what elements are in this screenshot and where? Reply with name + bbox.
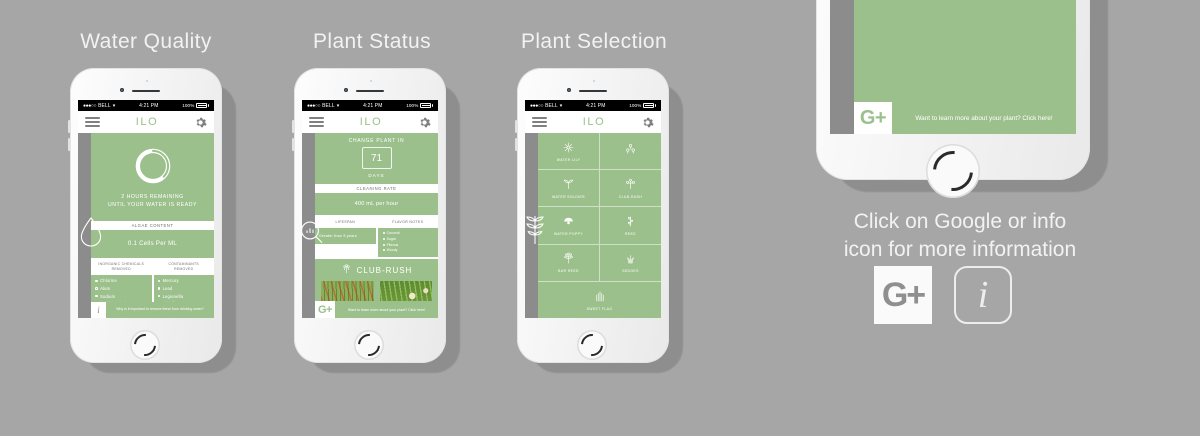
list-item: Chlorine xyxy=(95,278,148,283)
plant-label: WATER LILY xyxy=(557,158,581,162)
carrier-label: BELL xyxy=(98,103,111,109)
clock-label: 4:21 PM xyxy=(562,103,629,109)
days-value: 71 xyxy=(362,147,392,169)
timer-line-1: 2 HOURS REMAINING xyxy=(108,193,197,201)
status-bar: ●●●○○ BELL ▾ 4:21 PM 100% xyxy=(525,100,661,111)
instruction-caption: Click on Google or info icon for more in… xyxy=(828,208,1092,265)
sweet-flag-icon xyxy=(593,289,607,303)
side-strip xyxy=(830,0,854,134)
sedges-icon xyxy=(624,252,637,265)
flavor-column: FLAVOR NOTES Coconut Sugar Fibrous Woody xyxy=(378,217,439,257)
home-button[interactable] xyxy=(354,330,384,360)
proximity-sensor-icon xyxy=(146,80,148,82)
volume-button[interactable] xyxy=(292,138,295,151)
column-header: INORGANIC CHEMICALS REMOVED xyxy=(91,260,152,275)
section-title-water-quality: Water Quality xyxy=(46,30,246,54)
water-timer-text: 2 HOURS REMAINING UNTIL YOUR WATER IS RE… xyxy=(108,193,197,210)
front-camera-icon xyxy=(344,88,348,92)
plant-grid: WATER LILY xyxy=(538,133,661,318)
earpiece-speaker xyxy=(579,90,607,93)
bur-reed-icon xyxy=(562,252,575,265)
club-rush-icon xyxy=(624,178,637,191)
change-plant-card: CHANGE PLANT IN 71 DAYS xyxy=(315,133,438,184)
content-column: G+ Want to learn more about your plant? … xyxy=(854,0,1076,134)
days-label: DAYS xyxy=(315,169,438,184)
bullet-icon xyxy=(383,244,385,246)
carrier-label: BELL xyxy=(322,103,335,109)
list-item: Lead xyxy=(158,286,211,291)
bullet-icon xyxy=(95,280,98,283)
volume-button[interactable] xyxy=(68,120,71,133)
hamburger-menu-icon[interactable] xyxy=(309,115,324,129)
phone-plant-status: ●●●○○ BELL ▾ 4:21 PM 100% ILO CH xyxy=(294,68,446,363)
list-item: Fibrous xyxy=(383,243,434,247)
content-column: CHANGE PLANT IN 71 DAYS CLEANING RATE 40… xyxy=(315,133,438,318)
plant-grid-row: SWEET FLAG xyxy=(538,282,661,318)
app-header: ILO xyxy=(525,111,661,133)
earpiece-speaker xyxy=(356,90,384,93)
info-bar-text: Why is it important to remove these from… xyxy=(106,302,214,318)
earpiece-speaker xyxy=(132,90,160,93)
flavor-notes-list: Coconut Sugar Fibrous Woody xyxy=(378,228,439,256)
magnifier-icon[interactable] xyxy=(297,218,327,248)
plant-label: SEDGES xyxy=(622,269,639,273)
google-plus-label: G+ xyxy=(318,304,332,316)
list-item: Woody xyxy=(383,248,434,252)
clock-label: 4:21 PM xyxy=(115,103,182,109)
hamburger-menu-icon[interactable] xyxy=(532,115,547,129)
status-bar: ●●●○○ BELL ▾ 4:21 PM 100% xyxy=(302,100,438,111)
info-badge[interactable]: i xyxy=(954,266,1012,324)
google-plus-badge[interactable]: G+ xyxy=(874,266,932,324)
battery-icon xyxy=(420,103,431,108)
bullet-icon xyxy=(383,232,385,234)
battery-percent-label: 100% xyxy=(629,103,641,108)
clock-label: 4:21 PM xyxy=(339,103,406,109)
algae-content-value: 0.1 Cells Per ML xyxy=(91,230,214,258)
app-screen-plant-detail-large: G+ Want to learn more about your plant? … xyxy=(830,0,1076,134)
timer-line-2: UNTIL YOUR WATER IS READY xyxy=(108,201,197,209)
plant-cell-sedges[interactable]: SEDGES xyxy=(600,245,661,281)
phone-plant-detail-large: G+ Want to learn more about your plant? … xyxy=(816,0,1090,180)
plant-label: REED xyxy=(625,232,636,236)
gear-icon[interactable] xyxy=(418,116,431,129)
flavor-notes-header: FLAVOR NOTES xyxy=(378,217,439,228)
signal-icon: ●●●○○ xyxy=(307,103,320,109)
bullet-icon xyxy=(158,287,161,290)
info-icon[interactable]: i xyxy=(91,302,106,318)
plant-cell-reed[interactable]: REED xyxy=(600,207,661,243)
cleaning-rate-value: 400 mL per hour xyxy=(315,193,438,215)
google-plus-icon[interactable]: G+ xyxy=(854,102,892,134)
list-item: Sodium xyxy=(95,294,148,299)
google-plus-bar[interactable]: G+ Want to learn more about your plant? … xyxy=(315,301,438,318)
algae-content-header: ALGAE CONTENT xyxy=(91,221,214,230)
cleaning-rate-header: CLEANING RATE xyxy=(315,184,438,193)
volume-button[interactable] xyxy=(292,120,295,133)
gear-icon[interactable] xyxy=(194,116,207,129)
proximity-sensor-icon xyxy=(370,80,372,82)
plant-label: WATER SOLDIER xyxy=(552,195,585,199)
reed-icon xyxy=(624,215,637,228)
plant-cell-club-rush[interactable]: CLUB-RUSH xyxy=(600,170,661,206)
info-badge-label: i xyxy=(978,276,989,314)
plant-label: SWEET FLAG xyxy=(587,307,613,311)
front-camera-icon xyxy=(120,88,124,92)
google-plus-icon[interactable]: G+ xyxy=(315,301,335,318)
battery-percent-label: 100% xyxy=(406,103,418,108)
bullet-icon xyxy=(383,249,385,251)
volume-button[interactable] xyxy=(68,138,71,151)
water-lily-icon xyxy=(562,141,575,154)
app-body: G+ Want to learn more about your plant? … xyxy=(830,0,1076,134)
section-title-plant-status: Plant Status xyxy=(272,30,472,54)
carrier-label: BELL xyxy=(545,103,558,109)
home-button[interactable] xyxy=(926,144,980,198)
plant-grid-row: WATER LILY xyxy=(538,133,661,170)
column-header-line-2: REMOVED xyxy=(92,267,151,272)
volume-button[interactable] xyxy=(515,138,518,151)
content-column: WATER LILY xyxy=(538,133,661,318)
signal-icon: ●●●○○ xyxy=(530,103,543,109)
battery-cap-icon xyxy=(655,104,656,106)
plant-cell-bur-reed[interactable]: BUR REED xyxy=(538,245,600,281)
hamburger-menu-icon[interactable] xyxy=(85,115,100,129)
bullet-icon xyxy=(95,287,98,290)
app-screen-plant-status: ●●●○○ BELL ▾ 4:21 PM 100% ILO CH xyxy=(302,100,438,318)
volume-button[interactable] xyxy=(515,120,518,133)
app-brand-label: ILO xyxy=(360,116,383,128)
google-plus-text: Want to learn more about your plant? Cli… xyxy=(335,301,438,318)
plant-cell-water-soldier[interactable]: WATER SOLDIER xyxy=(538,170,600,206)
home-button[interactable] xyxy=(130,330,160,360)
plant-grid-row: BUR REED SEDGES xyxy=(538,245,661,282)
list-item: Legionella xyxy=(158,294,211,299)
app-header: ILO xyxy=(302,111,438,133)
plant-label: BUR REED xyxy=(558,269,579,273)
plant-label: CLUB-RUSH xyxy=(619,195,642,199)
content-column: 2 HOURS REMAINING UNTIL YOUR WATER IS RE… xyxy=(91,133,214,318)
app-header: ILO xyxy=(78,111,214,133)
bullet-icon xyxy=(95,295,98,298)
battery-cap-icon xyxy=(432,104,433,106)
status-bar: ●●●○○ BELL ▾ 4:21 PM 100% xyxy=(78,100,214,111)
lifespan-flavor-row: LIFESPAN Greater than 5 years FLAVOR NOT… xyxy=(315,217,438,257)
bullet-icon xyxy=(383,238,385,240)
plant-cell-water-lily[interactable]: WATER LILY xyxy=(538,133,600,169)
battery-icon xyxy=(643,103,654,108)
badge-row: G+ i xyxy=(874,266,1012,324)
google-plus-bar[interactable]: G+ Want to learn more about your plant? … xyxy=(854,102,1076,134)
plant-label: WATER POPPY xyxy=(554,232,583,236)
plant-grid-row: WATER POPPY xyxy=(538,207,661,244)
flowering-rush-icon xyxy=(624,143,637,156)
home-button[interactable] xyxy=(577,330,607,360)
plant-cell-flowering-rush[interactable] xyxy=(600,133,661,169)
proximity-sensor-icon xyxy=(593,80,595,82)
battery-percent-label: 100% xyxy=(182,103,194,108)
plant-icon[interactable] xyxy=(520,212,550,246)
section-title-plant-selection: Plant Selection xyxy=(494,30,694,54)
app-brand-label: ILO xyxy=(583,116,606,128)
app-screen-water-quality: ●●●○○ BELL ▾ 4:21 PM 100% ILO xyxy=(78,100,214,318)
google-plus-badge-label: G+ xyxy=(882,276,924,315)
info-bar[interactable]: i Why is it important to remove these fr… xyxy=(91,302,214,318)
battery-cap-icon xyxy=(208,104,209,106)
list-item: Coconut xyxy=(383,231,434,235)
bullet-icon xyxy=(158,280,161,283)
gear-icon[interactable] xyxy=(641,116,654,129)
plant-name-row: CLUB-RUSH xyxy=(315,259,438,281)
bullet-icon xyxy=(158,295,161,298)
list-item: Alum xyxy=(95,286,148,291)
club-rush-icon xyxy=(341,264,352,277)
water-poppy-icon xyxy=(562,215,575,228)
signal-icon: ●●●○○ xyxy=(83,103,96,109)
google-plus-label: G+ xyxy=(860,107,886,130)
water-ready-card: 2 HOURS REMAINING UNTIL YOUR WATER IS RE… xyxy=(91,133,214,221)
column-header-line-2: REMOVED xyxy=(155,267,214,272)
water-soldier-icon xyxy=(562,178,575,191)
front-camera-icon xyxy=(567,88,571,92)
change-plant-title: CHANGE PLANT IN xyxy=(315,133,438,147)
column-header: CONTAMINANTS REMOVED xyxy=(154,260,215,275)
poster-canvas: Water Quality Plant Status Plant Selecti… xyxy=(0,0,1200,436)
battery-icon xyxy=(196,103,207,108)
plant-cell-sweet-flag[interactable]: SWEET FLAG xyxy=(538,282,661,318)
plant-name-label: CLUB-RUSH xyxy=(357,266,413,275)
app-screen-plant-selection: ●●●○○ BELL ▾ 4:21 PM 100% ILO xyxy=(525,100,661,318)
water-drop-icon[interactable] xyxy=(78,216,104,248)
list-item: Sugar xyxy=(383,237,434,241)
progress-ring-icon xyxy=(132,145,174,187)
plant-grid-row: WATER SOLDIER CLUB-RUSH xyxy=(538,170,661,207)
list-item: Mercury xyxy=(158,278,211,283)
app-brand-label: ILO xyxy=(136,116,159,128)
google-plus-text: Want to learn more about your plant? Cli… xyxy=(892,102,1076,134)
